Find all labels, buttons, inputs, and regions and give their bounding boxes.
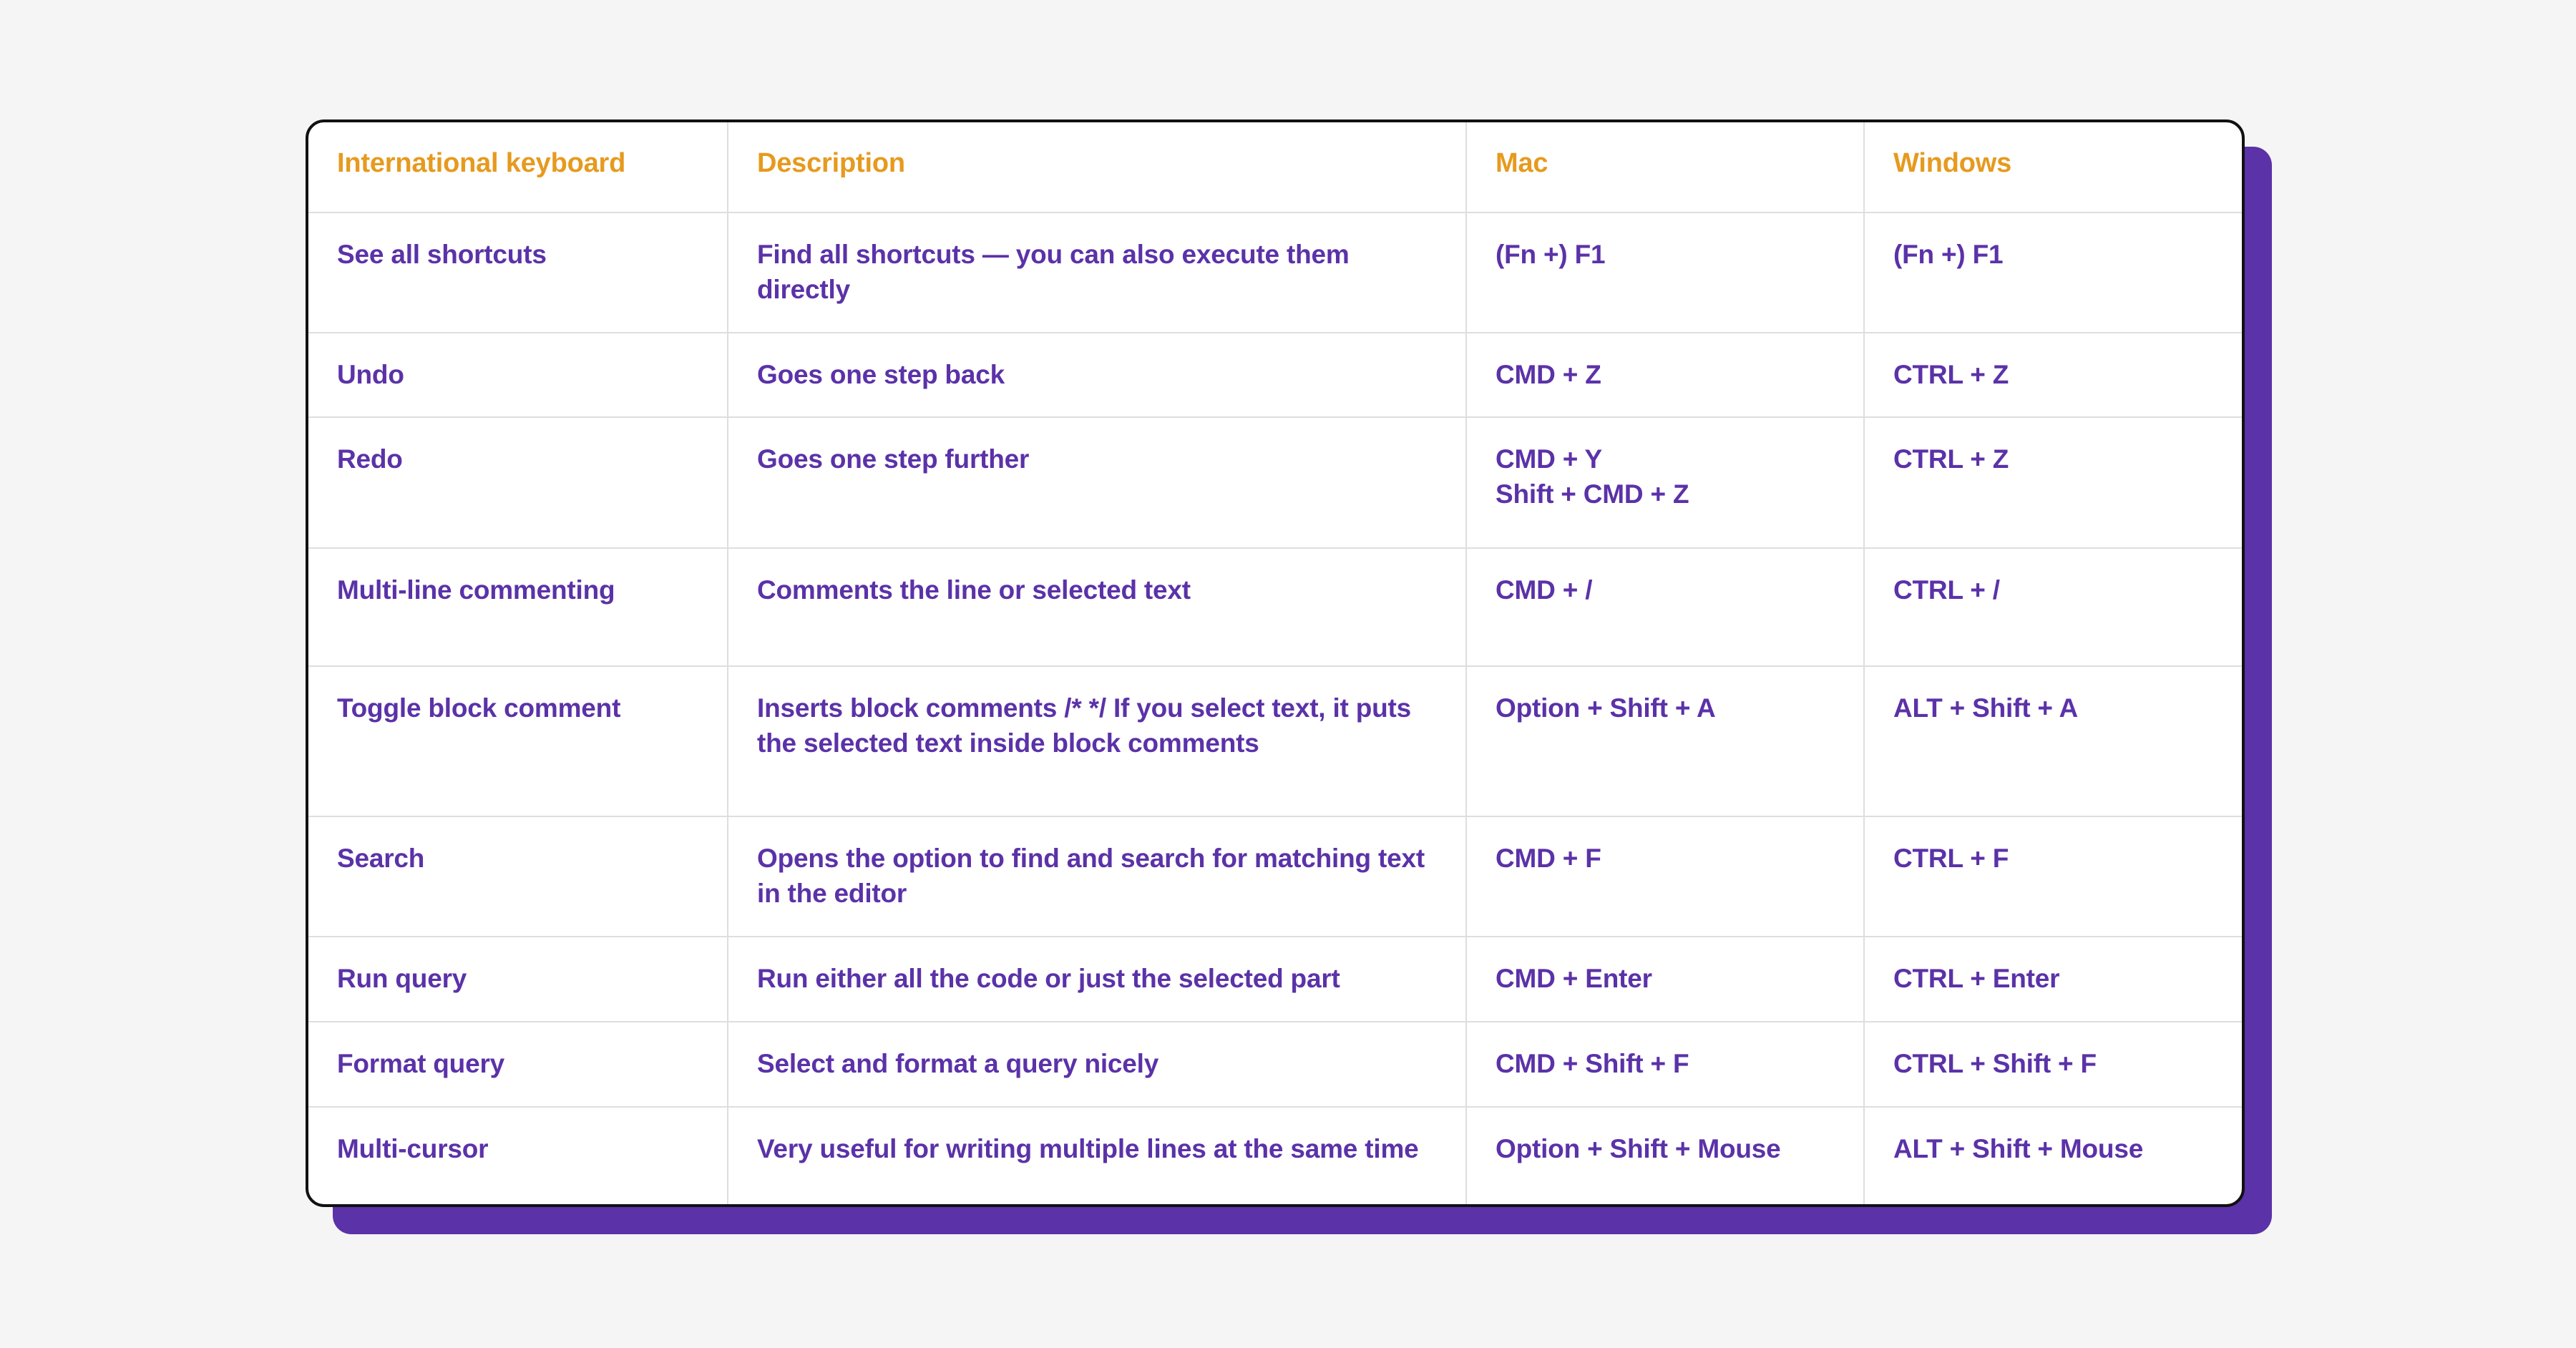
table-header: International keyboard Description Mac W… — [308, 122, 2245, 213]
cell-shortcut-name: Undo — [308, 333, 728, 418]
cell-description: Inserts block comments /* */ If you sele… — [728, 666, 1466, 816]
cell-windows-shortcut: ALT + Shift + Mouse — [1864, 1107, 2245, 1207]
cell-description: Select and format a query nicely — [728, 1022, 1466, 1107]
cell-windows-shortcut: CTRL + Shift + F — [1864, 1022, 2245, 1107]
cell-description: Goes one step further — [728, 417, 1466, 548]
table-row: Run query Run either all the code or jus… — [308, 937, 2245, 1022]
table-row: Redo Goes one step further CMD + Y Shift… — [308, 417, 2245, 548]
table-row: Format query Select and format a query n… — [308, 1022, 2245, 1107]
cell-mac-shortcut: CMD + / — [1466, 548, 1864, 666]
cell-mac-shortcut: CMD + F — [1466, 816, 1864, 937]
cell-shortcut-name: Redo — [308, 417, 728, 548]
cell-windows-shortcut: (Fn +) F1 — [1864, 213, 2245, 333]
cell-description: Opens the option to find and search for … — [728, 816, 1466, 937]
column-header-mac: Mac — [1466, 122, 1864, 213]
cell-description: Find all shortcuts — you can also execut… — [728, 213, 1466, 333]
cell-shortcut-name: Multi-line commenting — [308, 548, 728, 666]
table-row: See all shortcuts Find all shortcuts — y… — [308, 213, 2245, 333]
cell-mac-shortcut: Option + Shift + A — [1466, 666, 1864, 816]
cell-mac-shortcut: CMD + Enter — [1466, 937, 1864, 1022]
cell-shortcut-name: Search — [308, 816, 728, 937]
column-header-international-keyboard: International keyboard — [308, 122, 728, 213]
cell-windows-shortcut: CTRL + Z — [1864, 417, 2245, 548]
table-row: Multi-line commenting Comments the line … — [308, 548, 2245, 666]
cell-shortcut-name: Multi-cursor — [308, 1107, 728, 1207]
cell-windows-shortcut: CTRL + Z — [1864, 333, 2245, 418]
cell-mac-shortcut: CMD + Z — [1466, 333, 1864, 418]
cell-description: Goes one step back — [728, 333, 1466, 418]
cell-shortcut-name: Format query — [308, 1022, 728, 1107]
table-body: See all shortcuts Find all shortcuts — y… — [308, 213, 2245, 1207]
mac-shortcut-line-2: Shift + CMD + Z — [1496, 477, 1835, 512]
cell-mac-shortcut: Option + Shift + Mouse — [1466, 1107, 1864, 1207]
mac-shortcut-line-1: CMD + Y — [1496, 442, 1835, 477]
column-header-windows: Windows — [1864, 122, 2245, 213]
table-header-row: International keyboard Description Mac W… — [308, 122, 2245, 213]
shortcuts-table-card: International keyboard Description Mac W… — [306, 119, 2245, 1207]
table-row: Toggle block comment Inserts block comme… — [308, 666, 2245, 816]
keyboard-shortcuts-table: International keyboard Description Mac W… — [308, 122, 2245, 1207]
cell-mac-shortcut: CMD + Shift + F — [1466, 1022, 1864, 1107]
cell-shortcut-name: See all shortcuts — [308, 213, 728, 333]
column-header-description: Description — [728, 122, 1466, 213]
table-row: Search Opens the option to find and sear… — [308, 816, 2245, 937]
cell-windows-shortcut: CTRL + Enter — [1864, 937, 2245, 1022]
cell-windows-shortcut: CTRL + F — [1864, 816, 2245, 937]
table-row: Multi-cursor Very useful for writing mul… — [308, 1107, 2245, 1207]
cell-description: Run either all the code or just the sele… — [728, 937, 1466, 1022]
page-stage: International keyboard Description Mac W… — [0, 0, 2576, 1348]
cell-shortcut-name: Toggle block comment — [308, 666, 728, 816]
cell-description: Comments the line or selected text — [728, 548, 1466, 666]
table-row: Undo Goes one step back CMD + Z CTRL + Z — [308, 333, 2245, 418]
cell-shortcut-name: Run query — [308, 937, 728, 1022]
cell-mac-shortcut: (Fn +) F1 — [1466, 213, 1864, 333]
cell-windows-shortcut: CTRL + / — [1864, 548, 2245, 666]
cell-mac-shortcut: CMD + Y Shift + CMD + Z — [1466, 417, 1864, 548]
cell-windows-shortcut: ALT + Shift + A — [1864, 666, 2245, 816]
cell-description: Very useful for writing multiple lines a… — [728, 1107, 1466, 1207]
shortcuts-card-wrapper: International keyboard Description Mac W… — [306, 119, 2245, 1207]
